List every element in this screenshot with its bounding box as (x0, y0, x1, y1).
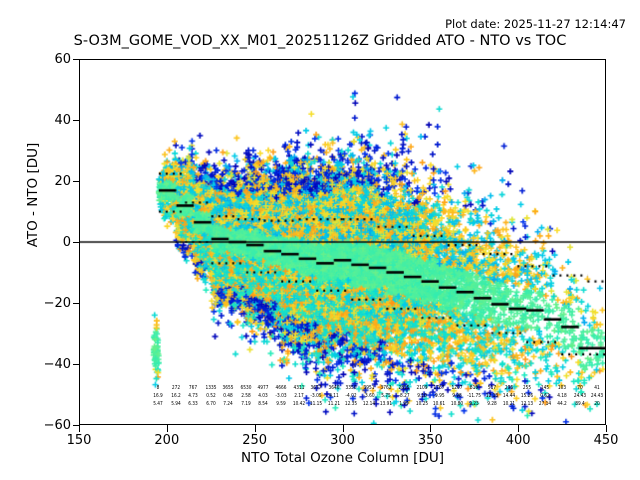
y-axis-label: ATO - NTO [DU] (25, 12, 41, 378)
x-tick-label: 200 (137, 434, 197, 447)
y-tick-label: 40 (0, 114, 71, 127)
x-tick-mark (518, 425, 519, 432)
page-title: S-O3M_GOME_VOD_XX_M01_20251126Z Gridded … (0, 33, 640, 50)
x-axis-label: NTO Total Ozone Column [DU] (79, 450, 606, 466)
x-tick-label: 150 (49, 434, 109, 447)
y-tick-label: −20 (0, 297, 71, 310)
y-tick-label: 0 (0, 236, 71, 249)
bin-mean-row: 16.916.24.730.520.482.584.03-3.032.17-3.… (79, 392, 606, 400)
y-tick-mark (73, 120, 80, 121)
y-tick-label: −40 (0, 358, 71, 371)
y-tick-mark (73, 303, 80, 304)
plot-date-label: Plot date: 2025-11-27 12:14:47 (0, 18, 626, 31)
scatter-plot-canvas (80, 60, 605, 424)
y-tick-label: 60 (0, 53, 71, 66)
plot-area[interactable] (79, 59, 606, 425)
x-tick-label: 450 (576, 434, 636, 447)
x-tick-label: 350 (400, 434, 460, 447)
x-tick-mark (343, 425, 344, 432)
x-tick-mark (79, 425, 80, 432)
y-tick-mark (73, 242, 80, 243)
x-tick-label: 250 (225, 434, 285, 447)
x-tick-mark (430, 425, 431, 432)
figure-canvas: Plot date: 2025-11-27 12:14:47 S-O3M_GOM… (0, 0, 640, 480)
x-tick-label: 400 (488, 434, 548, 447)
y-tick-mark (73, 181, 80, 182)
y-tick-label: −60 (0, 419, 71, 432)
bin-stat-value: 20 (580, 400, 614, 408)
bin-std-row: 5.475.946.336.707.247.198.549.5910.4211.… (79, 400, 606, 408)
x-tick-label: 300 (313, 434, 373, 447)
bin-stat-value: 41 (580, 384, 614, 392)
x-tick-mark (606, 425, 607, 432)
y-tick-label: 20 (0, 175, 71, 188)
y-tick-mark (73, 59, 80, 60)
x-tick-mark (255, 425, 256, 432)
bin-count-row: 8272767133536556530497746664311367736403… (79, 384, 606, 392)
y-tick-mark (73, 364, 80, 365)
x-tick-mark (167, 425, 168, 432)
bin-stat-value: 24.43 (580, 392, 614, 400)
